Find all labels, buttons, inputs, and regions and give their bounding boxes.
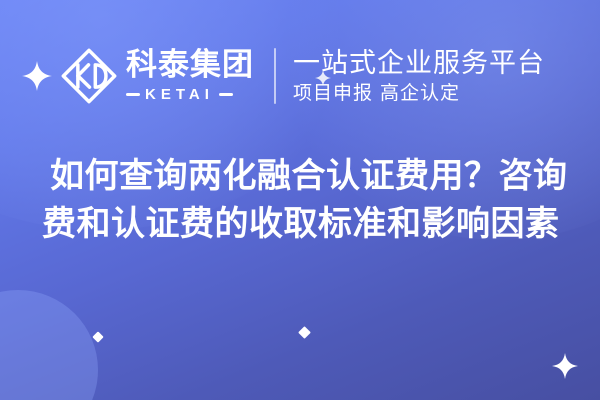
- title-line-2: 费和认证费的收取标准和影响因素: [42, 200, 570, 248]
- ketai-diamond-monogram-icon: [58, 45, 120, 107]
- brand-name-cn: 科泰集团: [126, 49, 254, 82]
- decorative-circle-left: [0, 290, 98, 400]
- sparkle-small-icon: [315, 70, 331, 86]
- tagline-block: 一站式企业服务平台 项目申报 高企认定: [293, 48, 545, 105]
- brand-name-en-row: KETAI: [126, 86, 254, 103]
- sparkle-four-point-bottom-right-icon: [552, 353, 578, 379]
- decorative-diamond-1: [92, 331, 103, 342]
- banner-title: 如何查询两化融合认证费用？咨询 费和认证费的收取标准和影响因素: [50, 152, 570, 248]
- brand-rule-left: [126, 93, 140, 96]
- decorative-diamond-2: [298, 326, 311, 339]
- header-divider: [274, 48, 276, 104]
- brand-name-en: KETAI: [145, 86, 214, 103]
- banner-header: 科泰集团 KETAI 一站式企业服务平台 项目申报 高企认定: [0, 38, 600, 114]
- brand-rule-right: [219, 93, 233, 96]
- sparkle-four-point-icon: [22, 61, 52, 91]
- brand-wordmark: 科泰集团 KETAI: [126, 49, 254, 102]
- promo-banner: 科泰集团 KETAI 一站式企业服务平台 项目申报 高企认定 如何查询两化融合认…: [0, 0, 600, 400]
- title-line-1: 如何查询两化融合认证费用？咨询: [50, 152, 570, 200]
